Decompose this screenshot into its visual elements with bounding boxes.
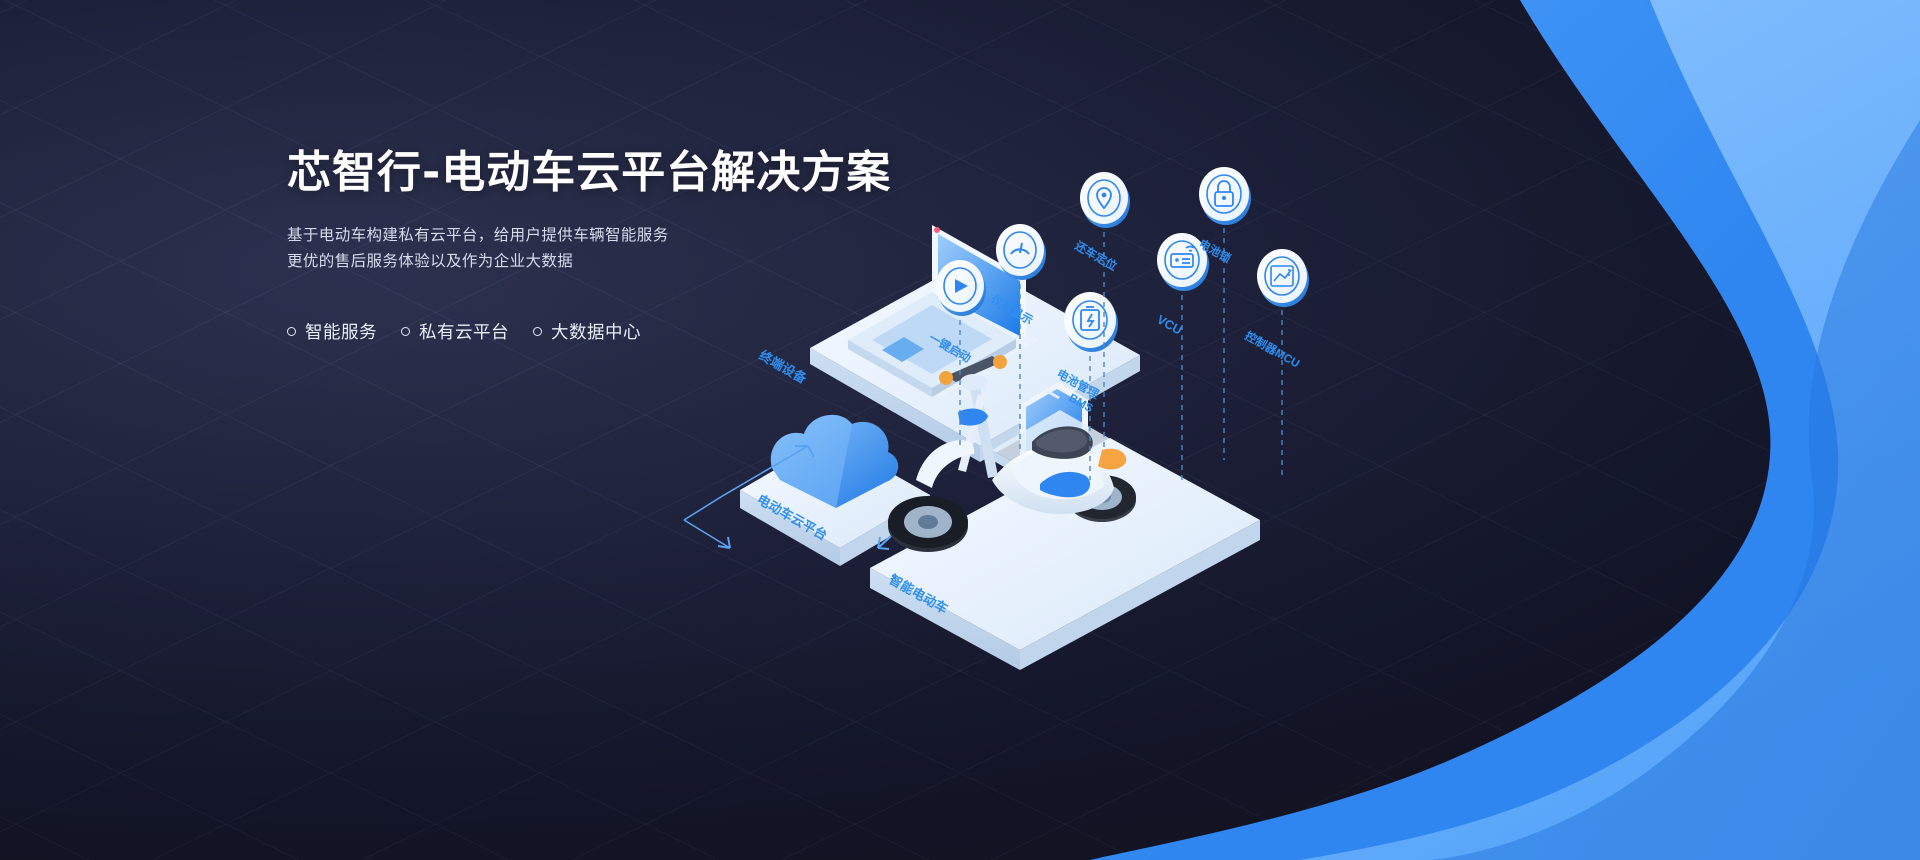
bullet-label: 智能服务 xyxy=(305,319,377,344)
bullet-dot-icon xyxy=(287,327,296,336)
badge-battery-lock[interactable]: 电池锁 xyxy=(1197,167,1251,460)
badge-vcu[interactable]: VCU xyxy=(1155,233,1209,480)
isometric-illustration: 终端设备 电动车云平台 xyxy=(640,150,1920,790)
badge-label-controller-mcu: 控制器MCU xyxy=(1243,328,1303,370)
bullet-dot-icon xyxy=(401,327,410,336)
badge-controller-mcu[interactable]: 控制器MCU xyxy=(1243,249,1309,480)
bullet-label: 大数据中心 xyxy=(551,319,641,344)
bullet-item-2: 大数据中心 xyxy=(533,319,641,344)
bullet-item-0: 智能服务 xyxy=(287,319,377,344)
dashboard xyxy=(960,374,988,390)
label-terminal-device: 终端设备 xyxy=(757,348,811,387)
right-grip xyxy=(993,355,1007,369)
left-grip xyxy=(939,371,953,385)
badge-label-vehicle-locate: 还车定位 xyxy=(1072,238,1120,274)
bullet-label: 私有云平台 xyxy=(419,319,509,344)
laptop-camera-dot-icon xyxy=(934,227,940,233)
badge-label-vcu: VCU xyxy=(1155,312,1185,337)
front-wheel xyxy=(888,496,968,552)
hero-banner: 芯智行-电动车云平台解决方案 基于电动车构建私有云平台，给用户提供车辆智能服务 … xyxy=(0,0,1920,860)
bullet-item-1: 私有云平台 xyxy=(401,319,509,344)
bullet-dot-icon xyxy=(533,327,542,336)
